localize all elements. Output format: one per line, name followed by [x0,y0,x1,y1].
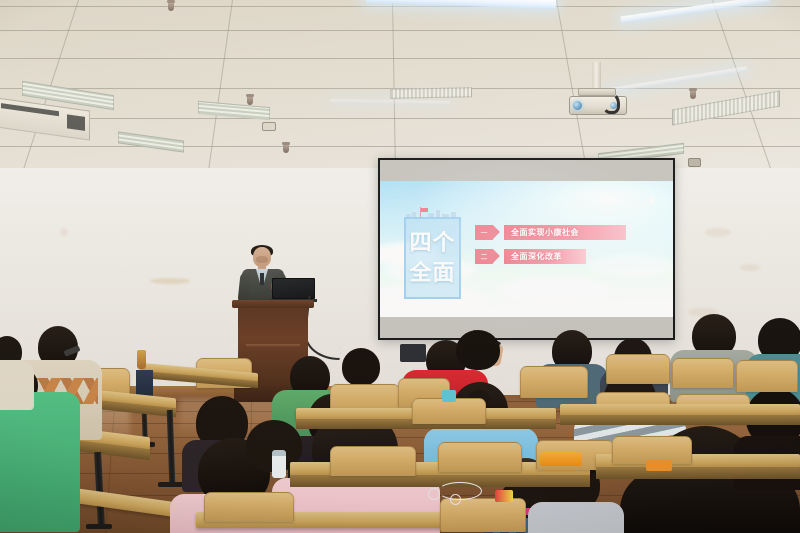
seat-back[interactable] [606,354,670,384]
slide-bullet-2-text: 全面深化改革 [504,249,586,264]
sparkle-icon [650,199,653,202]
water-bottle[interactable] [272,450,286,478]
seat-back[interactable] [438,442,522,472]
lecture-hall-photo: 四个 全面 一 全面实现小康社会 二 全面深化改革 [0,0,800,533]
seat-back[interactable] [520,366,588,398]
audience-member [452,330,510,380]
slide-title-line1: 四个 [406,233,459,255]
teal-cup[interactable] [442,390,456,402]
slide-bullet-1-number: 一 [475,225,493,240]
candy-wrapper[interactable] [495,490,513,502]
slide-title-line2: 全面 [406,263,459,285]
slide-bullet-1: 一 全面实现小康社会 [475,225,626,240]
tablet-device[interactable] [400,344,426,362]
person-torso [0,392,80,532]
ceiling [0,0,800,178]
seat-back[interactable] [672,358,734,388]
screen-surface: 四个 全面 一 全面实现小康社会 二 全面深化改革 [380,160,673,338]
orange-object[interactable] [646,460,672,471]
projector-lens [573,101,582,110]
seat-back[interactable] [330,446,416,476]
earphones[interactable] [428,482,480,508]
ceiling-light-fixture [366,0,556,9]
air-vent-grille [390,87,472,98]
seat-back[interactable] [736,360,798,392]
sprinkler-head [247,96,253,105]
presentation-slide: 四个 全面 一 全面实现小康社会 二 全面深化改革 [380,181,673,317]
screen-mount-bracket [688,158,701,167]
projector-mount-pole [592,62,601,90]
flag-icon [421,208,428,212]
slide-bullet-1-text: 全面实现小康社会 [504,225,626,240]
desk-edge [560,415,800,425]
pencil-case[interactable] [540,452,582,466]
ceiling-speaker [262,122,276,131]
ceiling-light-fixture [620,0,770,23]
sprinkler-head [168,2,174,11]
desk-edge [596,467,800,479]
slide-bullet-2-number: 二 [475,249,493,264]
ceiling-light-fixture [330,99,450,105]
projection-screen: 四个 全面 一 全面实现小康社会 二 全面深化改革 [378,158,675,340]
thermos-cup [137,350,146,369]
air-vent-grille [672,90,780,125]
seat-back[interactable] [204,492,294,522]
audience-member [0,336,32,406]
air-vent-grille [118,131,184,152]
sprinkler-head [690,90,696,99]
slide-bullet-2: 二 全面深化改革 [475,249,586,264]
sprinkler-head [283,144,289,153]
ceiling-projector [566,88,628,118]
slide-title-box: 四个 全面 [404,217,461,299]
projector-cable [602,92,620,114]
